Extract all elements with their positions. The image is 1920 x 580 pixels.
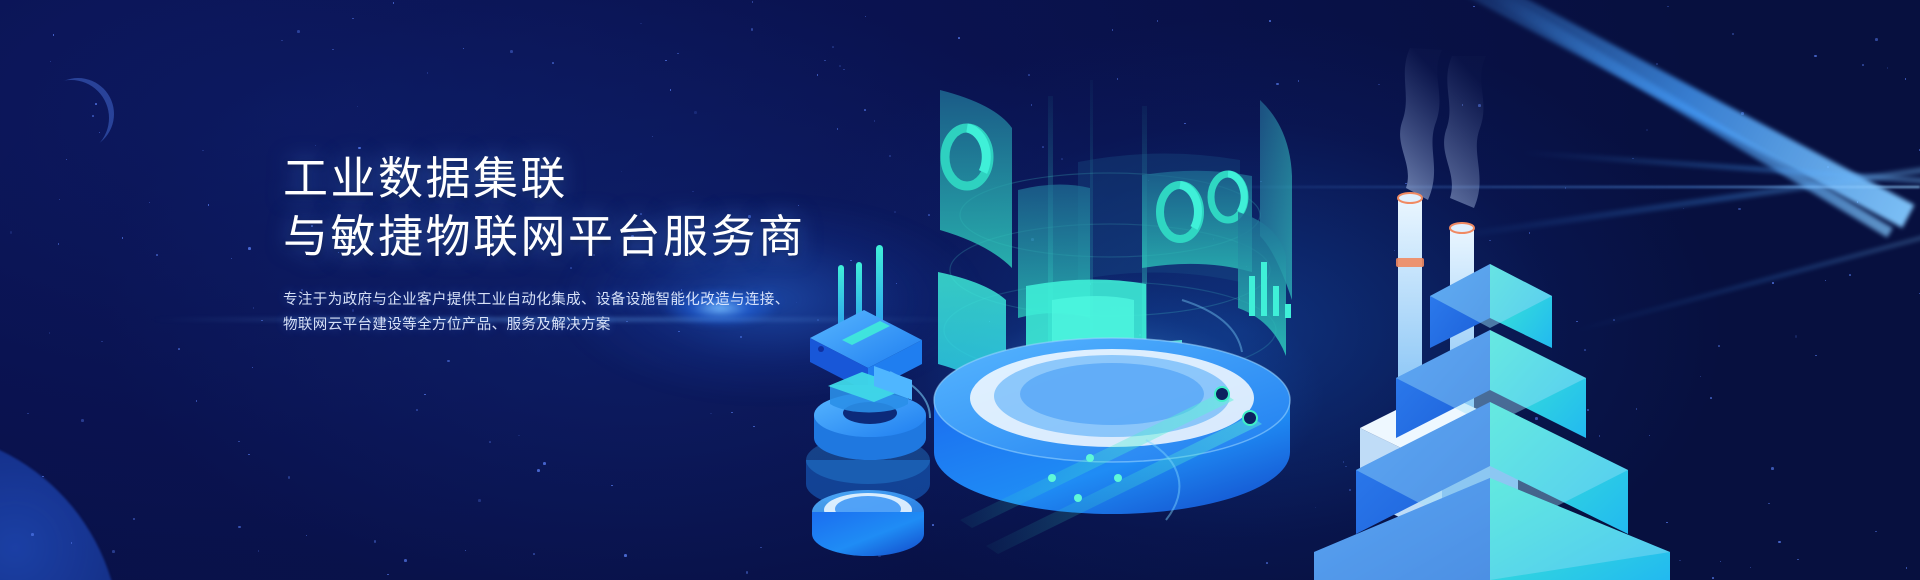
- layered-pyramid: [1314, 264, 1670, 580]
- headline-line-1: 工业数据集联: [283, 150, 923, 208]
- headline-line-2: 与敏捷物联网平台服务商: [283, 208, 923, 266]
- crescent-moon-icon: [42, 78, 114, 150]
- hero-subcopy: 专注于为政府与企业客户提供工业自动化集成、设备设施智能化改造与连接、 物联网云平…: [283, 288, 923, 338]
- donut-chart-3d: [806, 366, 930, 556]
- hero-banner: 工业数据集联 与敏捷物联网平台服务商 专注于为政府与企业客户提供工业自动化集成、…: [0, 0, 1920, 580]
- planet-arc-decor: [0, 430, 120, 580]
- subcopy-line-2: 物联网云平台建设等全方位产品、服务及解决方案: [283, 313, 923, 338]
- hero-illustration: [790, 0, 1920, 580]
- hero-copy-block: 工业数据集联 与敏捷物联网平台服务商 专注于为政府与企业客户提供工业自动化集成、…: [283, 150, 923, 338]
- subcopy-line-1: 专注于为政府与企业客户提供工业自动化集成、设备设施智能化改造与连接、: [283, 288, 923, 313]
